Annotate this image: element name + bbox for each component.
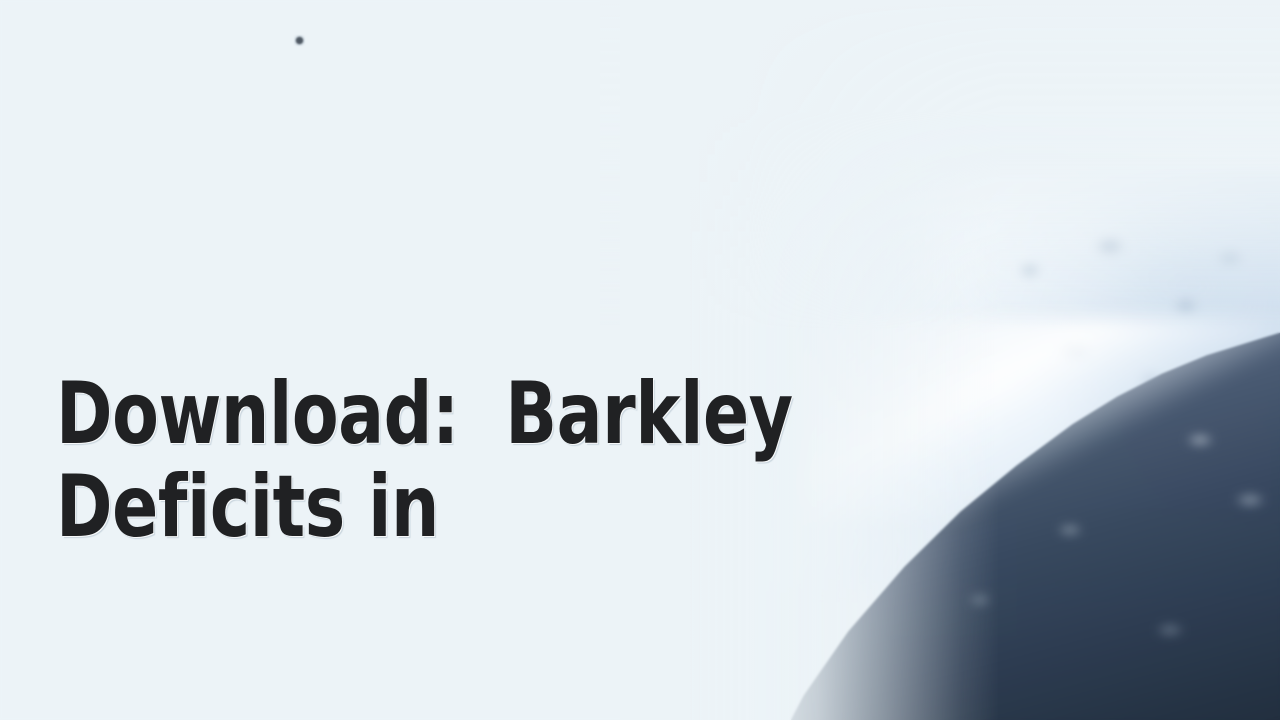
page-title-line-1: Download: Barkley Deficits in: [56, 368, 918, 554]
page-title: Download: Barkley Deficits in Executive …: [56, 182, 918, 720]
page-canvas: Download: Barkley Deficits in Executive …: [0, 0, 1280, 720]
